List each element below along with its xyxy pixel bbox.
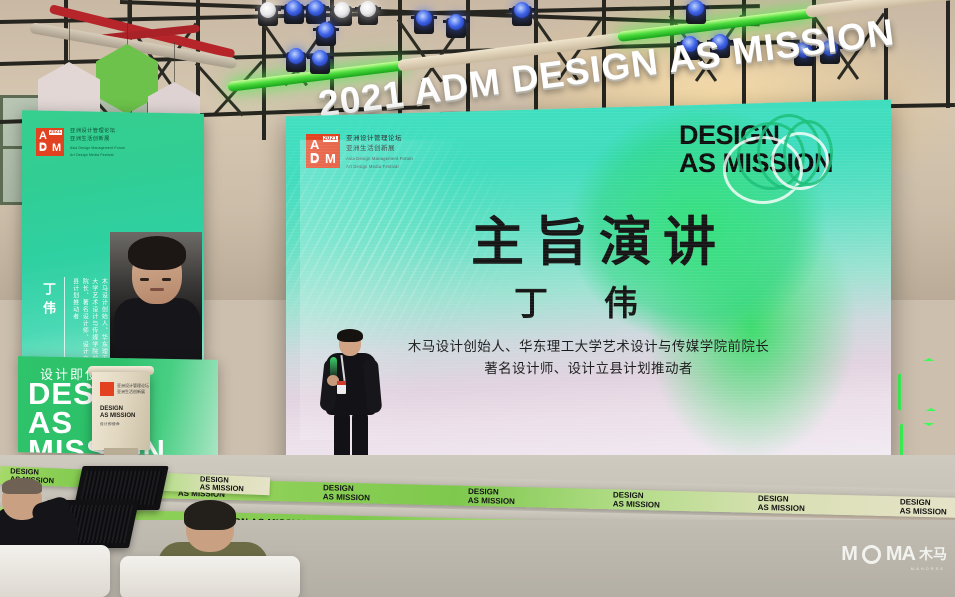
podium-en-text: DESIGN AS MISSION bbox=[100, 406, 135, 419]
podium-logo-cn-line2: 亚洲生活创新展 bbox=[117, 389, 149, 395]
watermark-brand-m: M bbox=[841, 544, 857, 564]
audience-sofa bbox=[0, 545, 110, 597]
step-label-line2: AS MISSION bbox=[900, 506, 947, 516]
podium-cn-slogan: 设计即使命 bbox=[100, 422, 120, 427]
stage-light bbox=[686, 0, 706, 24]
stage-light bbox=[414, 10, 434, 34]
step-label-line2: AS MISSION bbox=[199, 482, 244, 493]
adm-mark-line2: D M bbox=[310, 152, 337, 165]
keynote-title: 主旨演讲 bbox=[471, 200, 727, 276]
badge bbox=[337, 381, 346, 394]
banner-adm-mark-year: 2021 bbox=[49, 130, 62, 135]
stage-light bbox=[306, 0, 326, 24]
stage-light bbox=[286, 48, 306, 72]
podium-en-line1: DESIGN bbox=[100, 406, 135, 413]
stage-light bbox=[316, 22, 336, 46]
step-label-line2: AS MISSION bbox=[468, 496, 515, 506]
podium-lectern: 亚洲设计管理论坛 亚洲生活创新展 DESIGN AS MISSION 设计即使命 bbox=[92, 372, 150, 450]
speaker-banner: A D D M 2021 亚洲设计管理论坛 亚洲生活创新展 Asia Desig… bbox=[22, 110, 204, 361]
banner-adm-logo-mark: A D D M 2021 bbox=[36, 128, 64, 156]
banner-speaker-description: 木马设计创始人、华东理工大学艺术设计与传媒学院前院长、著名设计师、设计立县计划推… bbox=[70, 278, 108, 360]
adm-logo-mark: A D D M 2021 bbox=[306, 134, 340, 168]
stage-light bbox=[258, 2, 278, 26]
step-label-line2: AS MISSION bbox=[758, 503, 805, 513]
step-label-line2: AS MISSION bbox=[613, 499, 660, 509]
adm-logo-lockup: A D D M 2021 亚洲设计管理论坛 亚洲生活创新展 Asia Desig… bbox=[306, 134, 413, 170]
audience-hair bbox=[184, 500, 236, 530]
podium-logo-cn-line1: 亚洲设计管理论坛 bbox=[117, 383, 149, 389]
banner-adm-logo-lockup: A D D M 2021 亚洲设计管理论坛 亚洲生活创新展 Asia Desig… bbox=[36, 128, 125, 158]
podium-en-line2: AS MISSION bbox=[100, 413, 135, 420]
speaker-on-stage bbox=[322, 331, 380, 473]
podium-logo-cn: 亚洲设计管理论坛 亚洲生活创新展 bbox=[117, 383, 149, 394]
watermark-ring-icon bbox=[862, 545, 881, 564]
watermark-tagline: MAHORSE bbox=[911, 566, 945, 571]
portrait-hair bbox=[128, 236, 186, 270]
banner-logo-cn-line1: 亚洲设计管理论坛 bbox=[70, 128, 125, 136]
portrait-mouth bbox=[150, 288, 164, 291]
stage-light bbox=[310, 50, 330, 74]
speaker-portrait-photo bbox=[110, 232, 202, 360]
design-as-mission-artwork: DESIGN AS MISSION bbox=[679, 118, 879, 204]
banner-logo-cn-line2: 亚洲生活创新展 bbox=[70, 136, 125, 144]
watermark-brand-cn: 木马 bbox=[919, 544, 947, 564]
banner-divider bbox=[64, 277, 65, 360]
stage-light bbox=[446, 14, 466, 38]
stage-light bbox=[512, 2, 532, 26]
watermark-logo: M MA 木马 MAHORSE bbox=[841, 544, 947, 564]
stage-light bbox=[284, 0, 304, 24]
speaker-hair bbox=[337, 329, 363, 342]
adm-mark-year: 2021 bbox=[323, 136, 338, 142]
podium-adm-logo-mark bbox=[100, 382, 114, 396]
adm-logo-en-line1: Asia Design Management Forum bbox=[346, 156, 413, 162]
portrait-body bbox=[114, 298, 200, 360]
audience-sofa bbox=[120, 556, 300, 597]
banner-speaker-name: 丁伟 bbox=[38, 282, 57, 320]
portrait-eye-left bbox=[140, 278, 149, 281]
banner-logo-en-line1: Asia Design Management Forum bbox=[70, 146, 125, 151]
banner-adm-mark-line2: D M bbox=[39, 143, 62, 154]
stage-light bbox=[358, 1, 378, 25]
conference-stage-photo: 2021 ADM DESIGN AS MISSION A D D M 2021 … bbox=[0, 0, 955, 597]
adm-logo-en-line2: Art Design Media Festival bbox=[346, 164, 413, 170]
keynote-speaker-name: 丁 伟 bbox=[514, 276, 660, 325]
step-label-line2: AS MISSION bbox=[323, 492, 370, 502]
adm-logo-cn-line1: 亚洲设计管理论坛 bbox=[346, 134, 413, 144]
swirl-ring bbox=[783, 120, 833, 186]
banner-logo-en-line2: Art Design Media Festival bbox=[70, 153, 125, 158]
portrait-eye-right bbox=[162, 278, 171, 281]
watermark-brand-ma: MA bbox=[886, 544, 915, 564]
audience-hair bbox=[2, 478, 42, 494]
adm-logo-cn-line2: 亚洲生活创新展 bbox=[346, 144, 413, 154]
